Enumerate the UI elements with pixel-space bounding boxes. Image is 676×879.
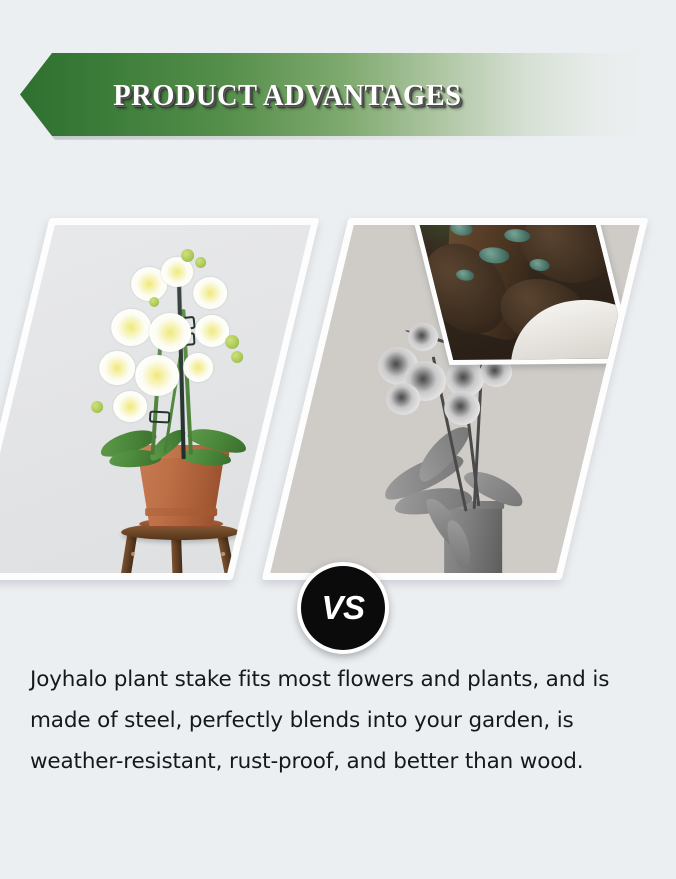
orchid-bloom-9 [183, 353, 213, 382]
panel-right-photo-frame [270, 225, 640, 573]
product-advantages-banner: PRODUCT ADVANTAGES [0, 50, 676, 142]
vs-badge: VS [297, 562, 389, 654]
gray-bloom-10 [444, 391, 480, 425]
stool-rivet-right [221, 552, 225, 556]
comparison-panel-left [0, 218, 319, 580]
mouldy-wooden-stake-photo [414, 225, 628, 360]
orchid-bud-5 [91, 401, 103, 413]
orchid-color-photo [0, 225, 311, 573]
orchid-scene [0, 225, 311, 573]
stool-rivet-left [131, 552, 135, 556]
orchid-bloom-5 [149, 313, 191, 352]
orchid-bloom-4 [111, 309, 151, 346]
orchid-bloom-3 [193, 277, 227, 309]
orchid-bud-6 [149, 297, 159, 307]
comparison-panel-right [262, 218, 649, 580]
gray-bloom-7 [386, 383, 420, 415]
vs-badge-label: VS [321, 589, 364, 627]
orchid-bloom-7 [99, 351, 135, 385]
orchid-bud-1 [181, 249, 194, 262]
stool-leg-middle [171, 537, 184, 573]
gray-bloom-4 [408, 323, 438, 351]
orchid-bud-3 [225, 335, 239, 349]
orchid-bud-2 [195, 257, 206, 268]
orchid-bloom-10 [113, 391, 147, 422]
banner-title-text: PRODUCT ADVANTAGES [27, 53, 649, 136]
orchid-bud-4 [231, 351, 243, 363]
pot-bottom-ring [145, 508, 217, 516]
orchid-grayscale-photo [270, 225, 640, 573]
orchid-bloom-6 [195, 315, 229, 347]
stake-clip-lower [149, 410, 171, 423]
panel-left-photo-frame [0, 225, 311, 573]
orchid-bloom-8 [135, 355, 179, 396]
product-description-text: Joyhalo plant stake fits most flowers an… [30, 659, 656, 782]
comparison-panels: VS [0, 200, 676, 600]
